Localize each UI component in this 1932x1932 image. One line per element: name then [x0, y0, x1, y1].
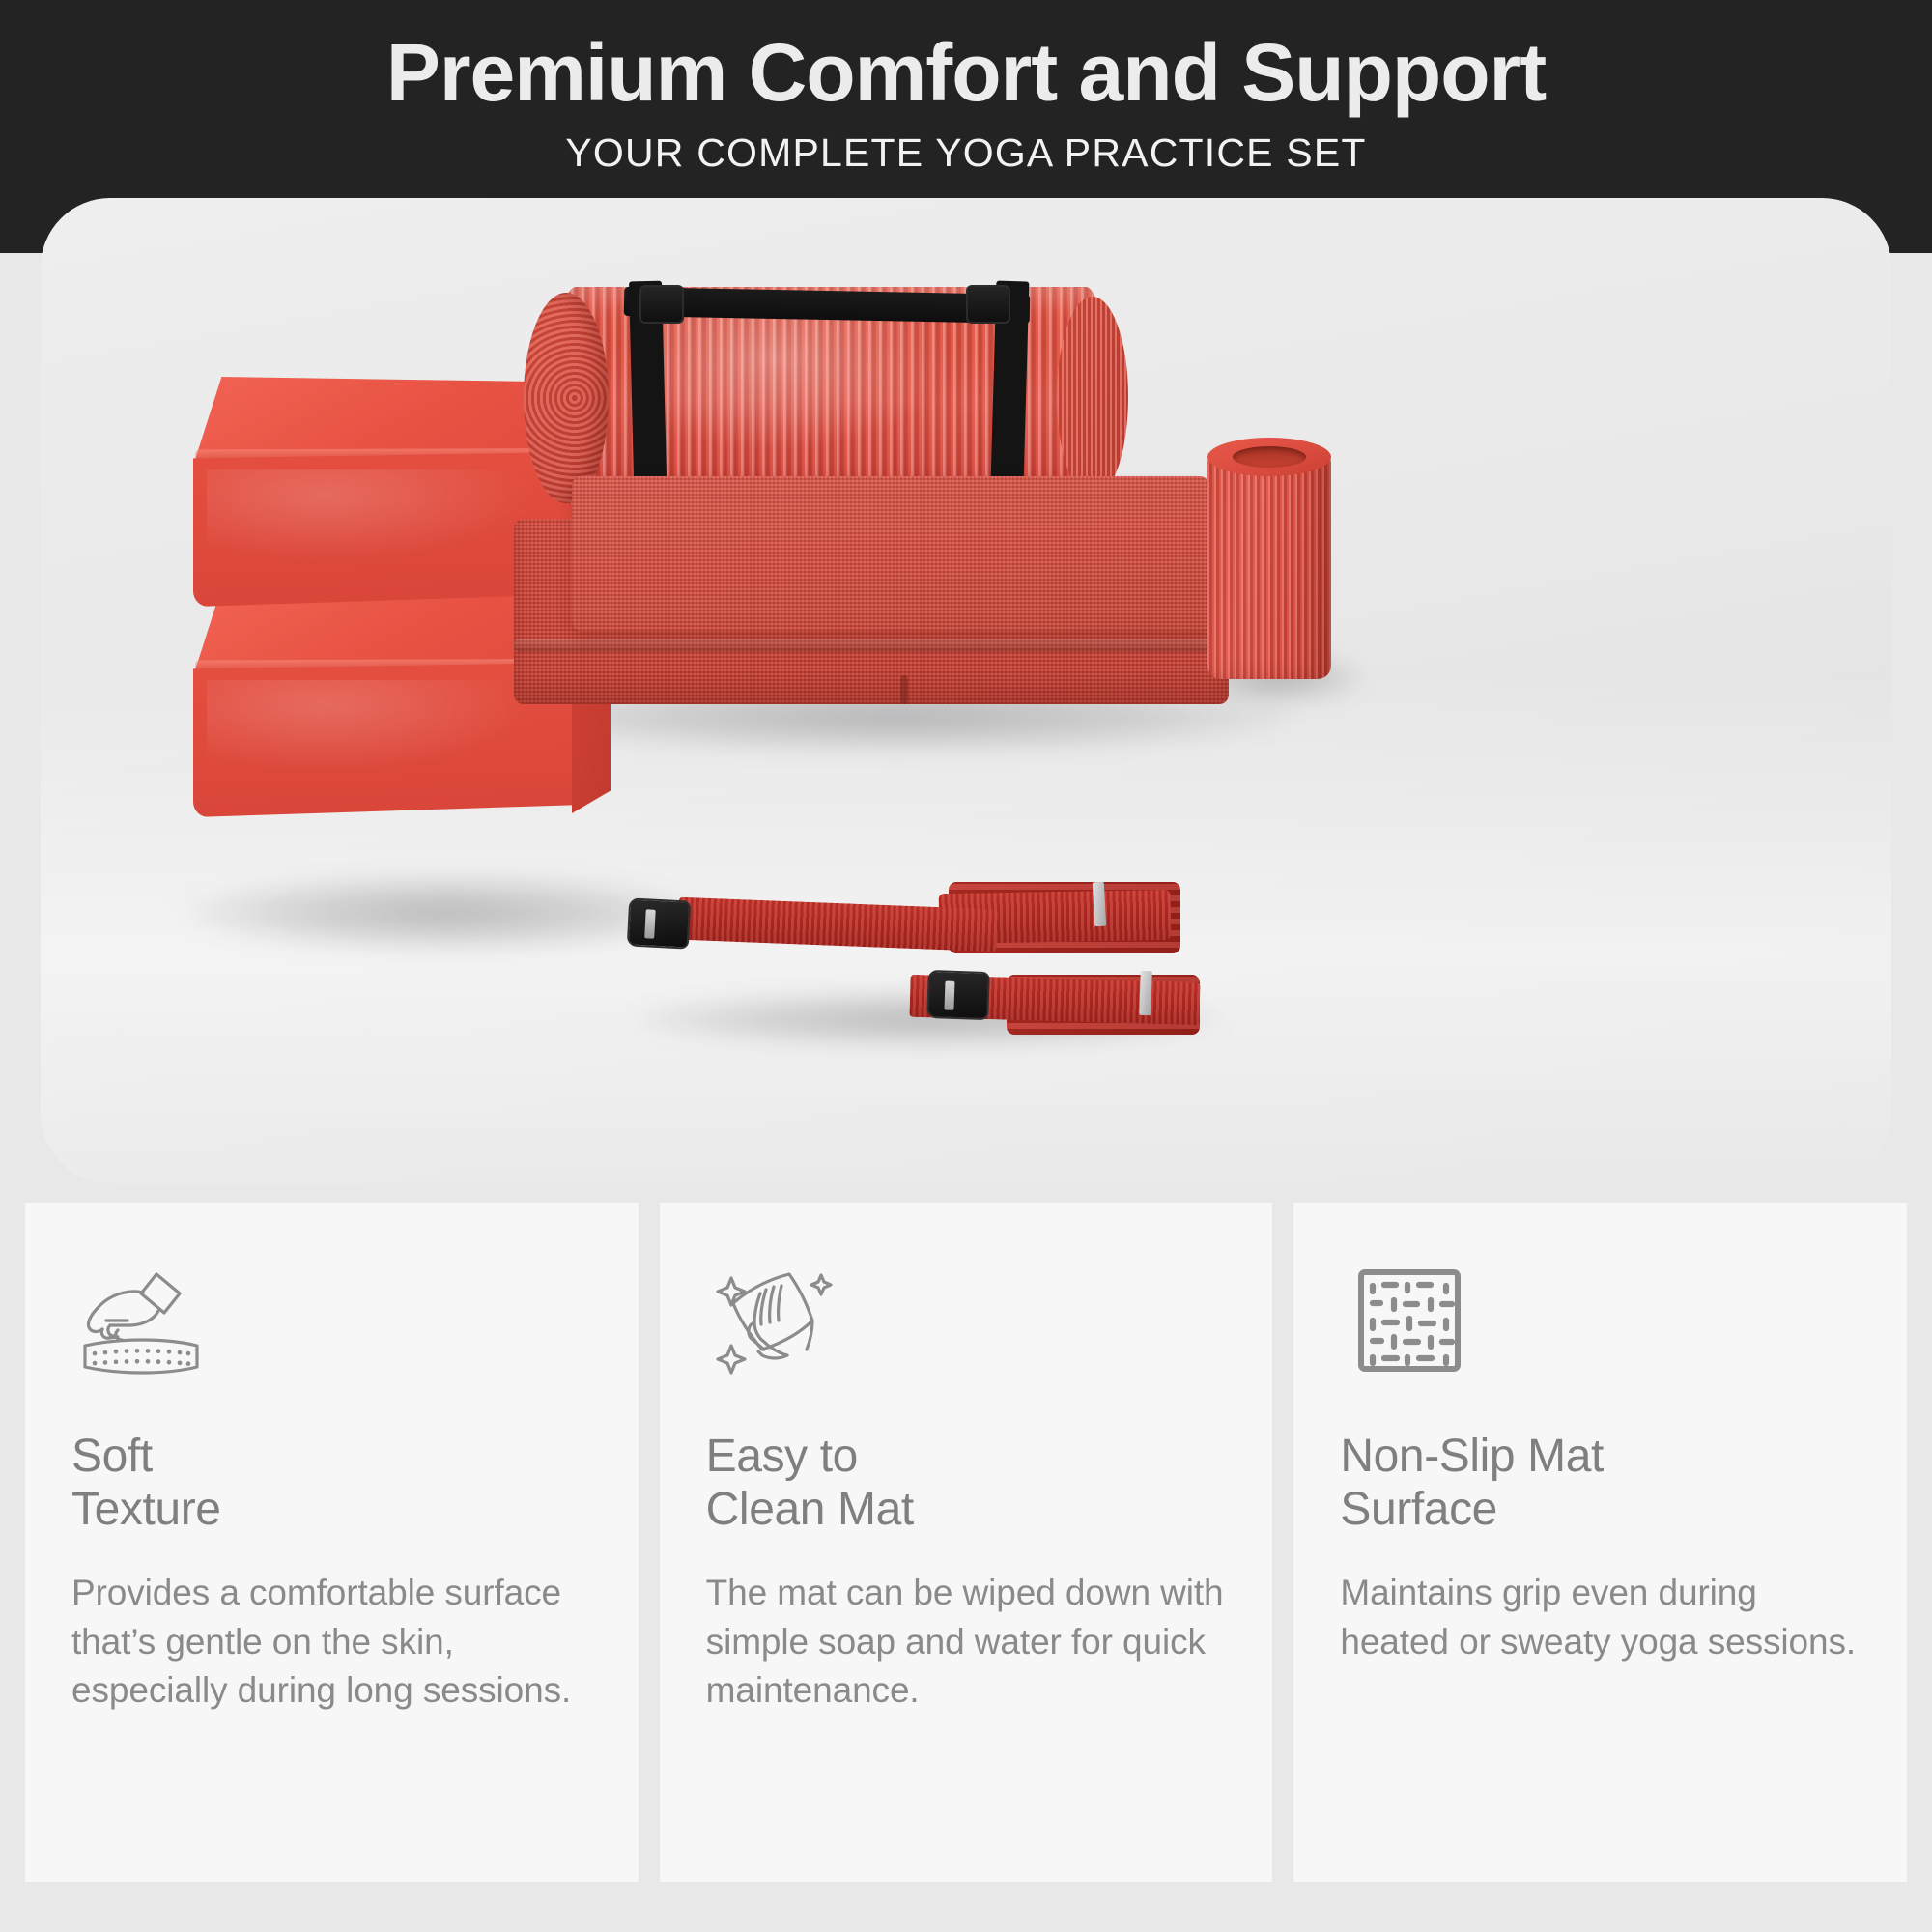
feature-cards: Soft Texture Provides a comfortable surf…: [25, 1203, 1907, 1882]
mat-strap-buckle-left: [639, 285, 684, 324]
feature-card-soft-texture: Soft Texture Provides a comfortable surf…: [25, 1203, 639, 1882]
hand-touching-padded-mat-icon: [71, 1261, 207, 1386]
feature-title: Non-Slip Mat Surface: [1340, 1431, 1861, 1536]
yoga-straps: [620, 874, 1258, 1048]
feature-card-non-slip: Non-Slip Mat Surface Maintains grip even…: [1293, 1203, 1907, 1882]
page-subtitle: YOUR COMPLETE YOGA PRACTICE SET: [565, 130, 1366, 176]
product-infographic-poster: Premium Comfort and Support YOUR COMPLET…: [0, 0, 1932, 1932]
page-title: Premium Comfort and Support: [386, 29, 1546, 117]
grip-texture-square-icon: [1340, 1261, 1475, 1386]
strap-metal-tip-upper: [1093, 882, 1106, 927]
strap-metal-tip-lower: [1139, 971, 1152, 1015]
strap-buckle-lower: [926, 970, 990, 1020]
roller-body: [1207, 453, 1331, 679]
mat-strap-buckle-right: [966, 285, 1010, 324]
roller-hollow-core: [1233, 446, 1306, 468]
foam-roller: [1207, 438, 1331, 679]
mat-right-end: [1057, 297, 1128, 497]
towel-upper: [572, 476, 1209, 631]
feature-body: Maintains grip even during heated or swe…: [1340, 1569, 1861, 1666]
feature-body: Provides a comfortable surface that’s ge…: [71, 1569, 592, 1715]
feature-title: Soft Texture: [71, 1431, 592, 1536]
block-sheen: [207, 469, 535, 562]
buckle-bar: [944, 981, 954, 1010]
yoga-towels: [514, 476, 1277, 718]
buckle-bar: [644, 909, 656, 938]
block-sheen: [207, 680, 535, 773]
product-photo-panel: [41, 198, 1891, 1183]
feature-body: The mat can be wiped down with simple so…: [706, 1569, 1227, 1715]
hand-wiping-cloth-sparkle-icon: [706, 1261, 841, 1386]
feature-card-easy-to-clean: Easy to Clean Mat The mat can be wiped d…: [660, 1203, 1273, 1882]
towel-seam: [900, 675, 908, 704]
mat-left-end: [524, 293, 609, 503]
feature-title: Easy to Clean Mat: [706, 1431, 1227, 1536]
towel-fold-edge: [514, 639, 1229, 652]
strap-buckle-upper: [627, 897, 692, 949]
